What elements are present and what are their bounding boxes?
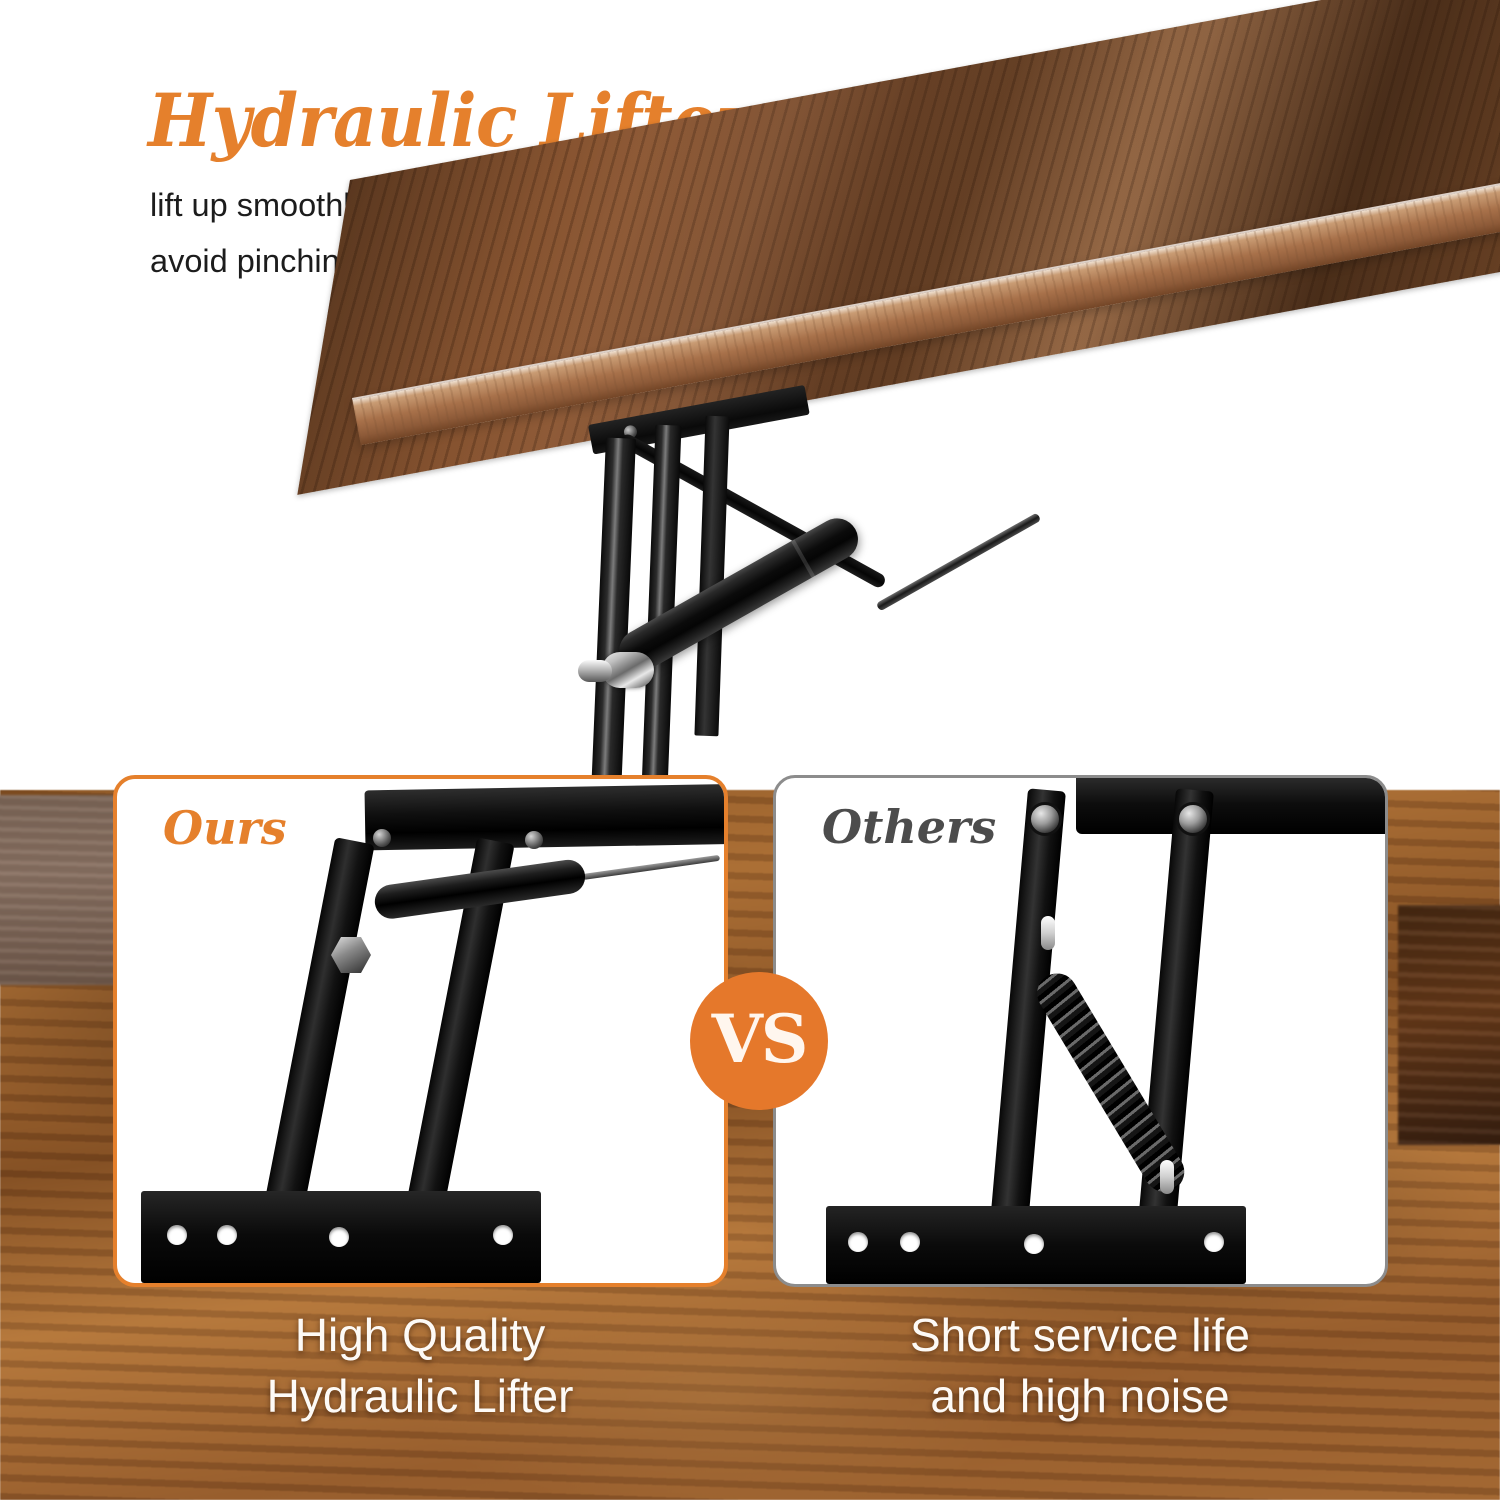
caption-others-line-2: and high noise bbox=[760, 1366, 1400, 1427]
others-screw-hole-1 bbox=[848, 1232, 868, 1252]
ours-gas-strut-rod bbox=[583, 855, 720, 880]
others-mounting-base bbox=[826, 1206, 1246, 1284]
ours-top-rail bbox=[365, 784, 728, 851]
others-screw-hole-4 bbox=[1204, 1232, 1224, 1252]
ours-rivet-2 bbox=[525, 831, 543, 849]
comparison-panel-ours[interactable]: Ours bbox=[113, 775, 728, 1287]
caption-others: Short service life and high noise bbox=[760, 1305, 1400, 1426]
lifter-arm-bar-3 bbox=[694, 416, 729, 737]
others-top-rail bbox=[1076, 778, 1388, 834]
others-screw-hole-3 bbox=[1024, 1234, 1044, 1254]
lift-top-table-photo bbox=[330, 170, 1500, 790]
vs-badge-label: VS bbox=[712, 1006, 807, 1072]
ours-screw-hole-4 bbox=[493, 1225, 513, 1245]
ours-screw-hole-2 bbox=[217, 1225, 237, 1245]
infographic-root: Hydraulic Lifter lift up smoothly and lo… bbox=[0, 0, 1500, 1500]
panel-label-ours: Ours bbox=[163, 801, 287, 855]
ours-screw-hole-3 bbox=[329, 1227, 349, 1247]
hero-section: Hydraulic Lifter lift up smoothly and lo… bbox=[0, 0, 1500, 790]
ours-mounting-base bbox=[141, 1191, 541, 1283]
others-bolt-1 bbox=[1028, 802, 1062, 836]
others-slot-2 bbox=[1160, 1160, 1174, 1194]
ours-rivet-1 bbox=[373, 829, 391, 847]
caption-ours-line-1: High Quality bbox=[100, 1305, 740, 1366]
comparison-panel-others[interactable]: Others bbox=[773, 775, 1388, 1287]
caption-others-line-1: Short service life bbox=[760, 1305, 1400, 1366]
ours-screw-hole-1 bbox=[167, 1225, 187, 1245]
gas-strut-pin bbox=[578, 660, 612, 682]
others-slot-1 bbox=[1041, 916, 1055, 950]
others-screw-hole-2 bbox=[900, 1232, 920, 1252]
wood-panel-right bbox=[1398, 905, 1500, 1145]
vs-badge: VS bbox=[690, 972, 828, 1110]
caption-ours-line-2: Hydraulic Lifter bbox=[100, 1366, 740, 1427]
panel-label-others: Others bbox=[822, 800, 996, 854]
lifter-arm-bar-1 bbox=[590, 438, 636, 790]
gas-strut-rod bbox=[876, 512, 1041, 611]
others-bolt-2 bbox=[1176, 802, 1210, 836]
caption-ours: High Quality Hydraulic Lifter bbox=[100, 1305, 740, 1426]
